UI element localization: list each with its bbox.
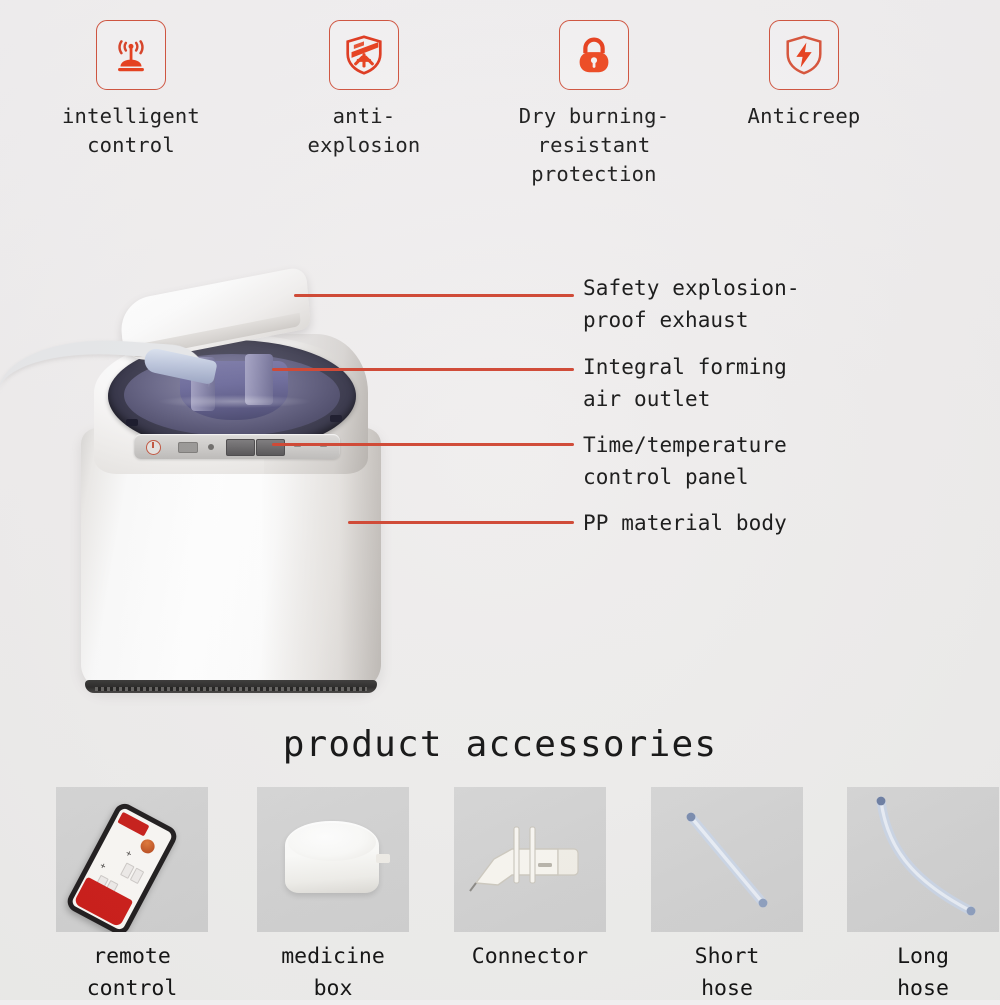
feature-icon-box xyxy=(96,20,166,90)
nebulizer-device-photo xyxy=(58,262,406,722)
device-rim-notch xyxy=(126,419,138,426)
panel-slot xyxy=(178,442,198,453)
feature-dry-burning-resistant: Dry burning- resistant protection xyxy=(489,20,699,189)
medicine-box-icon xyxy=(285,821,379,893)
accessory-image-tile xyxy=(257,787,409,932)
signal-tower-icon xyxy=(108,32,154,78)
power-button-icon[interactable] xyxy=(146,440,161,455)
feature-anticreep: Anticreep xyxy=(727,20,881,131)
accessory-label: Short hose xyxy=(651,941,803,1005)
callout-pp-material-body: PP material body xyxy=(583,507,983,539)
shield-explosion-icon xyxy=(341,32,387,78)
accessory-image-tile xyxy=(454,787,606,932)
accessory-connector[interactable]: Connector xyxy=(454,787,606,973)
panel-indicator-dot xyxy=(208,444,214,450)
accessory-long-hose[interactable]: Long hose xyxy=(847,787,999,1005)
panel-display xyxy=(226,439,255,456)
remote-power-knob xyxy=(138,837,157,856)
callout-leader-line-4 xyxy=(348,521,574,524)
accessory-label: Connector xyxy=(454,941,606,973)
feature-label: Anticreep xyxy=(727,102,881,131)
accessory-image-tile xyxy=(847,787,999,932)
panel-display xyxy=(256,439,285,456)
callout-air-outlet: Integral forming air outlet xyxy=(583,351,983,415)
callout-control-panel: Time/temperature control panel xyxy=(583,429,983,493)
feature-icon-box xyxy=(769,20,839,90)
feature-label: Dry burning- resistant protection xyxy=(489,102,699,189)
device-base xyxy=(85,680,377,693)
device-base-vents xyxy=(95,687,367,691)
feature-anti-explosion: anti- explosion xyxy=(287,20,441,160)
medicine-box-lid xyxy=(288,823,376,861)
callout-leader-line-2 xyxy=(272,368,574,371)
feature-icon-box xyxy=(329,20,399,90)
callout-safety-exhaust: Safety explosion- proof exhaust xyxy=(583,272,983,336)
remote-plus-mark: + xyxy=(98,862,107,872)
remote-brand-strip xyxy=(117,812,149,837)
accessory-image-tile xyxy=(651,787,803,932)
accessory-short-hose[interactable]: Short hose xyxy=(651,787,803,1005)
remote-footer-strip xyxy=(73,877,133,928)
accessories-section-title: product accessories xyxy=(0,724,1000,765)
short-hose-icon xyxy=(651,787,803,932)
feature-icon-box xyxy=(559,20,629,90)
accessory-image-tile: + + xyxy=(56,787,208,932)
accessory-medicine-box[interactable]: medicine box xyxy=(257,787,409,1005)
connector-icon xyxy=(454,787,606,932)
remote-control-icon: + + xyxy=(64,800,180,932)
remote-plus-mark: + xyxy=(124,849,133,859)
accessory-remote-control[interactable]: + + remote control xyxy=(56,787,208,1005)
padlock-icon xyxy=(571,32,617,78)
callout-leader-line-3 xyxy=(272,443,574,446)
product-infographic: intelligent control anti- explosion xyxy=(0,0,1000,1000)
feature-intelligent-control: intelligent control xyxy=(54,20,208,160)
accessory-label: remote control xyxy=(56,941,208,1005)
long-hose-icon xyxy=(847,787,999,932)
callout-leader-line-1 xyxy=(294,294,574,297)
device-rim-notch xyxy=(330,415,342,422)
feature-label: anti- explosion xyxy=(287,102,441,160)
device-control-panel[interactable] xyxy=(134,434,340,459)
medicine-box-spout xyxy=(376,854,390,863)
feature-label: intelligent control xyxy=(54,102,208,160)
accessory-label: Long hose xyxy=(847,941,999,1005)
accessory-label: medicine box xyxy=(257,941,409,1005)
shield-lightning-icon xyxy=(781,32,827,78)
